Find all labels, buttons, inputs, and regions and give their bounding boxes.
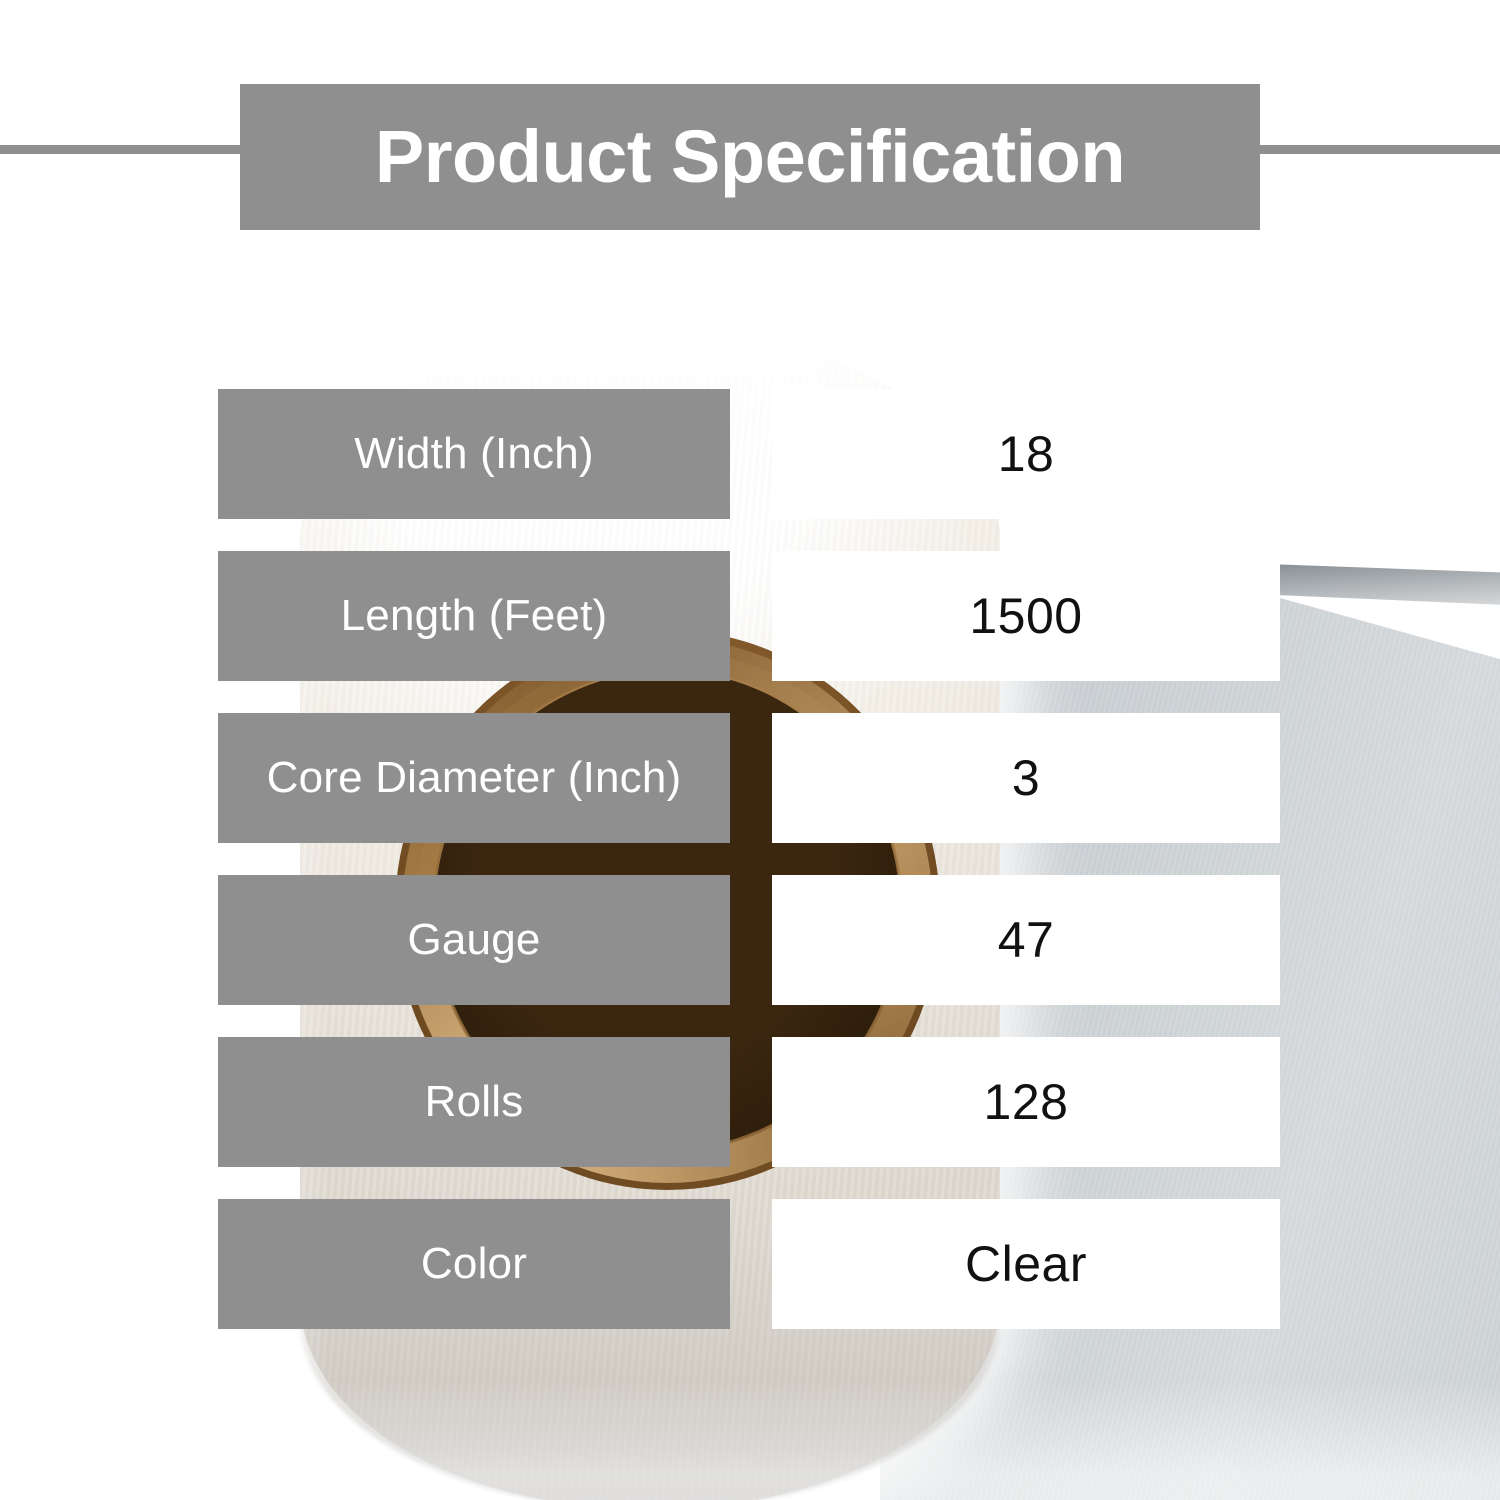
spec-label-length: Length (Feet) [218, 551, 730, 681]
table-row: Rolls 128 [218, 1037, 1280, 1167]
spec-label-color: Color [218, 1199, 730, 1329]
header-rule-left [0, 145, 245, 154]
spec-label-text: Rolls [425, 1078, 524, 1126]
spec-value-color: Clear [772, 1199, 1280, 1329]
header-rule-right [1255, 145, 1500, 154]
spec-label-text: Core Diameter (Inch) [267, 754, 682, 802]
spec-label-text: Length (Feet) [341, 592, 608, 640]
spec-label-text: Width (Inch) [354, 430, 594, 478]
spec-value-length: 1500 [772, 551, 1280, 681]
table-row: Width (Inch) 18 [218, 389, 1280, 519]
spec-label-text: Gauge [407, 916, 540, 964]
product-specification-page: Product Specification Width (Inch) 18 Le… [0, 0, 1500, 1500]
spec-value-width: 18 [772, 389, 1280, 519]
spec-value-text: 128 [984, 1077, 1069, 1127]
page-title: Product Specification [375, 120, 1125, 194]
spec-value-gauge: 47 [772, 875, 1280, 1005]
table-row: Gauge 47 [218, 875, 1280, 1005]
spec-label-core-diameter: Core Diameter (Inch) [218, 713, 730, 843]
table-row: Color Clear [218, 1199, 1280, 1329]
table-row: Length (Feet) 1500 [218, 551, 1280, 681]
spec-value-rolls: 128 [772, 1037, 1280, 1167]
spec-value-core-diameter: 3 [772, 713, 1280, 843]
spec-label-rolls: Rolls [218, 1037, 730, 1167]
header-banner: Product Specification [240, 84, 1260, 230]
spec-value-text: 47 [998, 915, 1055, 965]
spec-value-text: Clear [965, 1239, 1087, 1289]
spec-value-text: 18 [998, 429, 1055, 479]
specification-table: Width (Inch) 18 Length (Feet) 1500 Core … [218, 389, 1280, 1329]
spec-label-text: Color [421, 1240, 527, 1288]
spec-label-gauge: Gauge [218, 875, 730, 1005]
table-row: Core Diameter (Inch) 3 [218, 713, 1280, 843]
spec-label-width: Width (Inch) [218, 389, 730, 519]
spec-value-text: 1500 [969, 591, 1082, 641]
spec-value-text: 3 [1012, 753, 1040, 803]
